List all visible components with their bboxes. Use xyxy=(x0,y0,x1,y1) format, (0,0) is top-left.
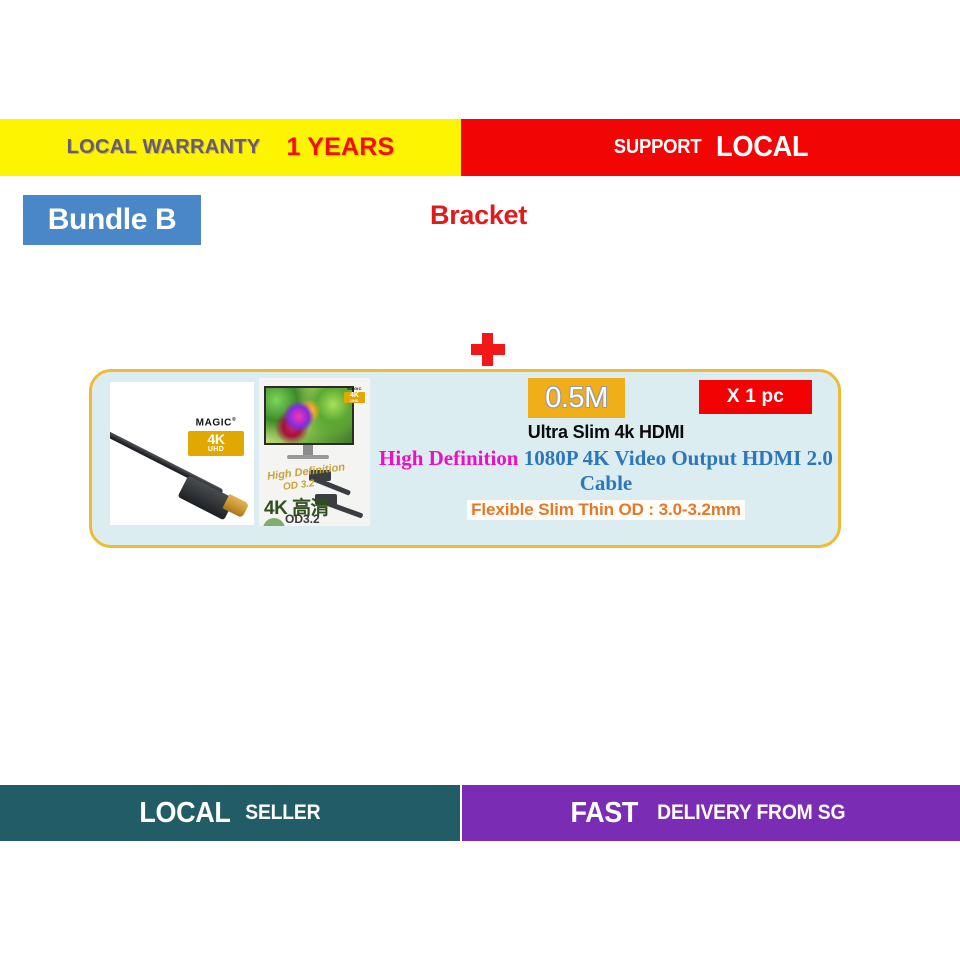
local-seller-emphasis-label: LOCAL xyxy=(140,797,231,830)
product-spec-label: Flexible Slim Thin OD : 3.0-3.2mm xyxy=(467,500,745,520)
bottom-promo-banner: LOCAL SELLER FAST DELIVERY FROM SG xyxy=(0,785,960,841)
tv-stand-neck-shape xyxy=(303,445,313,455)
uhd-badge-uhd-label: UHD xyxy=(188,446,244,454)
tv-caption-od: OD 3.2 xyxy=(282,478,315,493)
fast-delivery-emphasis-label: FAST xyxy=(571,797,638,830)
product-description-highlight: High Definition xyxy=(379,446,518,470)
product-image-hdmi-cable: MAGIC® 4K UHD xyxy=(110,382,254,525)
quantity-badge-label: X 1 pc xyxy=(727,386,784,408)
tv-uhd-badge-box: 4K UHD xyxy=(344,392,365,403)
product-spec-row: Flexible Slim Thin OD : 3.0-3.2mm xyxy=(378,500,834,520)
fast-delivery-suffix-label: DELIVERY FROM SG xyxy=(657,801,845,825)
uhd-badge-box: 4K UHD xyxy=(188,431,244,456)
support-prefix-label: SUPPORT xyxy=(613,136,701,159)
plus-icon-vertical-bar xyxy=(482,333,493,366)
length-badge: 0.5M xyxy=(528,378,625,418)
quantity-badge: X 1 pc xyxy=(699,380,812,414)
magic-brand-label: MAGIC® xyxy=(188,414,244,429)
bundle-badge: Bundle B xyxy=(23,195,201,245)
product-title: Ultra Slim 4k HDMI xyxy=(378,422,834,443)
page-title: Bracket xyxy=(430,200,527,231)
local-seller-strip: LOCAL SELLER xyxy=(0,785,462,841)
support-local-strip: SUPPORT LOCAL xyxy=(461,119,960,176)
product-card: MAGIC® 4K UHD MAGIC 4K UHD High Definiti… xyxy=(89,369,841,548)
warranty-label: LOCAL WARRANTY xyxy=(67,136,261,159)
local-seller-suffix-label: SELLER xyxy=(245,801,320,825)
registered-mark-icon: ® xyxy=(232,417,236,423)
product-badge-row: 0.5M X 1 pc xyxy=(378,378,834,420)
warranty-duration: 1 YEARS xyxy=(286,133,394,162)
product-details-block: 0.5M X 1 pc Ultra Slim 4k HDMI High Defi… xyxy=(378,378,834,543)
support-emphasis-label: LOCAL xyxy=(716,131,808,164)
bundle-badge-label: Bundle B xyxy=(48,203,176,237)
top-promo-banner: LOCAL WARRANTY 1 YEARS SUPPORT LOCAL xyxy=(0,119,960,176)
length-badge-label: 0.5M xyxy=(545,382,607,415)
product-image-tv-scene: MAGIC 4K UHD High Definition OD 3.2 4K 高… xyxy=(259,378,370,526)
tv-caption-od-value: OD3.2 xyxy=(285,512,320,526)
local-warranty-strip: LOCAL WARRANTY 1 YEARS xyxy=(0,119,461,176)
tv-stand-base-shape xyxy=(287,455,329,459)
tv-magic-brand-label: MAGIC xyxy=(344,386,365,391)
product-description-rest: 1080P 4K Video Output HDMI 2.0 Cable xyxy=(518,446,832,495)
tv-screen-rose-image xyxy=(266,388,352,443)
uhd-badge-4k-label: 4K xyxy=(188,432,244,446)
magic-4k-uhd-badge: MAGIC® 4K UHD xyxy=(188,414,244,456)
tv-cable-wire-lower xyxy=(324,500,363,518)
tv-bezel-shape xyxy=(264,386,354,445)
tv-uhd-badge-uhd-label: UHD xyxy=(344,399,365,403)
product-description: High Definition 1080P 4K Video Output HD… xyxy=(378,446,834,496)
tv-uhd-badge-4k-label: 4K xyxy=(344,392,365,399)
magic-brand-text: MAGIC xyxy=(196,417,232,428)
plus-icon xyxy=(471,333,505,366)
tv-magic-4k-uhd-badge: MAGIC 4K UHD xyxy=(344,386,365,403)
fast-delivery-strip: FAST DELIVERY FROM SG xyxy=(462,785,960,841)
